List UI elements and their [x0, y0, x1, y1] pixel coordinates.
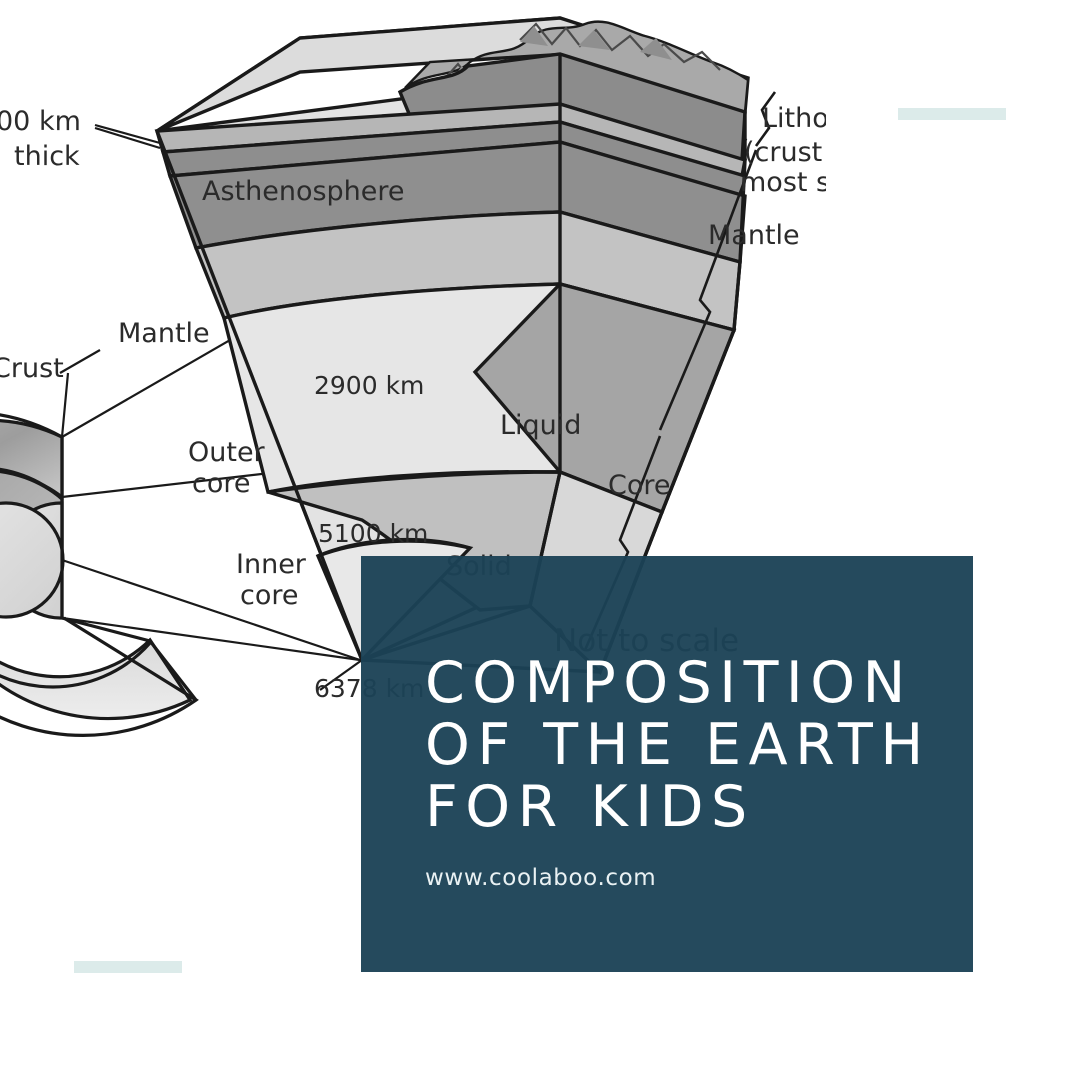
title-line-1: COMPOSITION [425, 652, 973, 714]
label-mantle-bracket: Mantle [708, 220, 800, 251]
label-core-bracket: Core [608, 470, 671, 501]
label-lithosphere-bracket-l1: Litho [762, 103, 829, 134]
poster-canvas: 00 km thick Crust Mantle Asthenosphere 2… [0, 0, 1080, 1080]
decorative-bar-bottom-left [74, 961, 182, 973]
label-inner-core-l2: core [240, 580, 298, 611]
title-line-2: OF THE EARTH [425, 714, 973, 776]
label-depth-2900km: 2900 km [314, 371, 424, 400]
label-asthenosphere: Asthenosphere [202, 176, 405, 207]
label-lithosphere-thickness-l2: thick [14, 141, 80, 172]
label-lithosphere-thickness-l1: 00 km [0, 106, 81, 137]
label-liquid: Liquid [500, 410, 581, 441]
cutaway-sphere [0, 412, 196, 735]
website-url[interactable]: www.coolaboo.com [425, 865, 656, 891]
label-outer-core-l1: Outer [188, 437, 266, 468]
label-crust: Crust [0, 353, 64, 384]
title-card: COMPOSITION OF THE EARTH FOR KIDS www.co… [361, 556, 973, 972]
label-lithosphere-bracket-l3: most s [740, 167, 830, 198]
decorative-bar-top-right [898, 108, 1006, 120]
label-outer-core-l2: core [192, 468, 250, 499]
title-line-3: FOR KIDS [425, 776, 973, 838]
label-lithosphere-bracket-l2: (crust [744, 137, 822, 168]
label-depth-5100km: 5100 km [318, 519, 428, 548]
label-inner-core-l1: Inner [236, 549, 307, 580]
label-mantle-left: Mantle [118, 318, 210, 349]
